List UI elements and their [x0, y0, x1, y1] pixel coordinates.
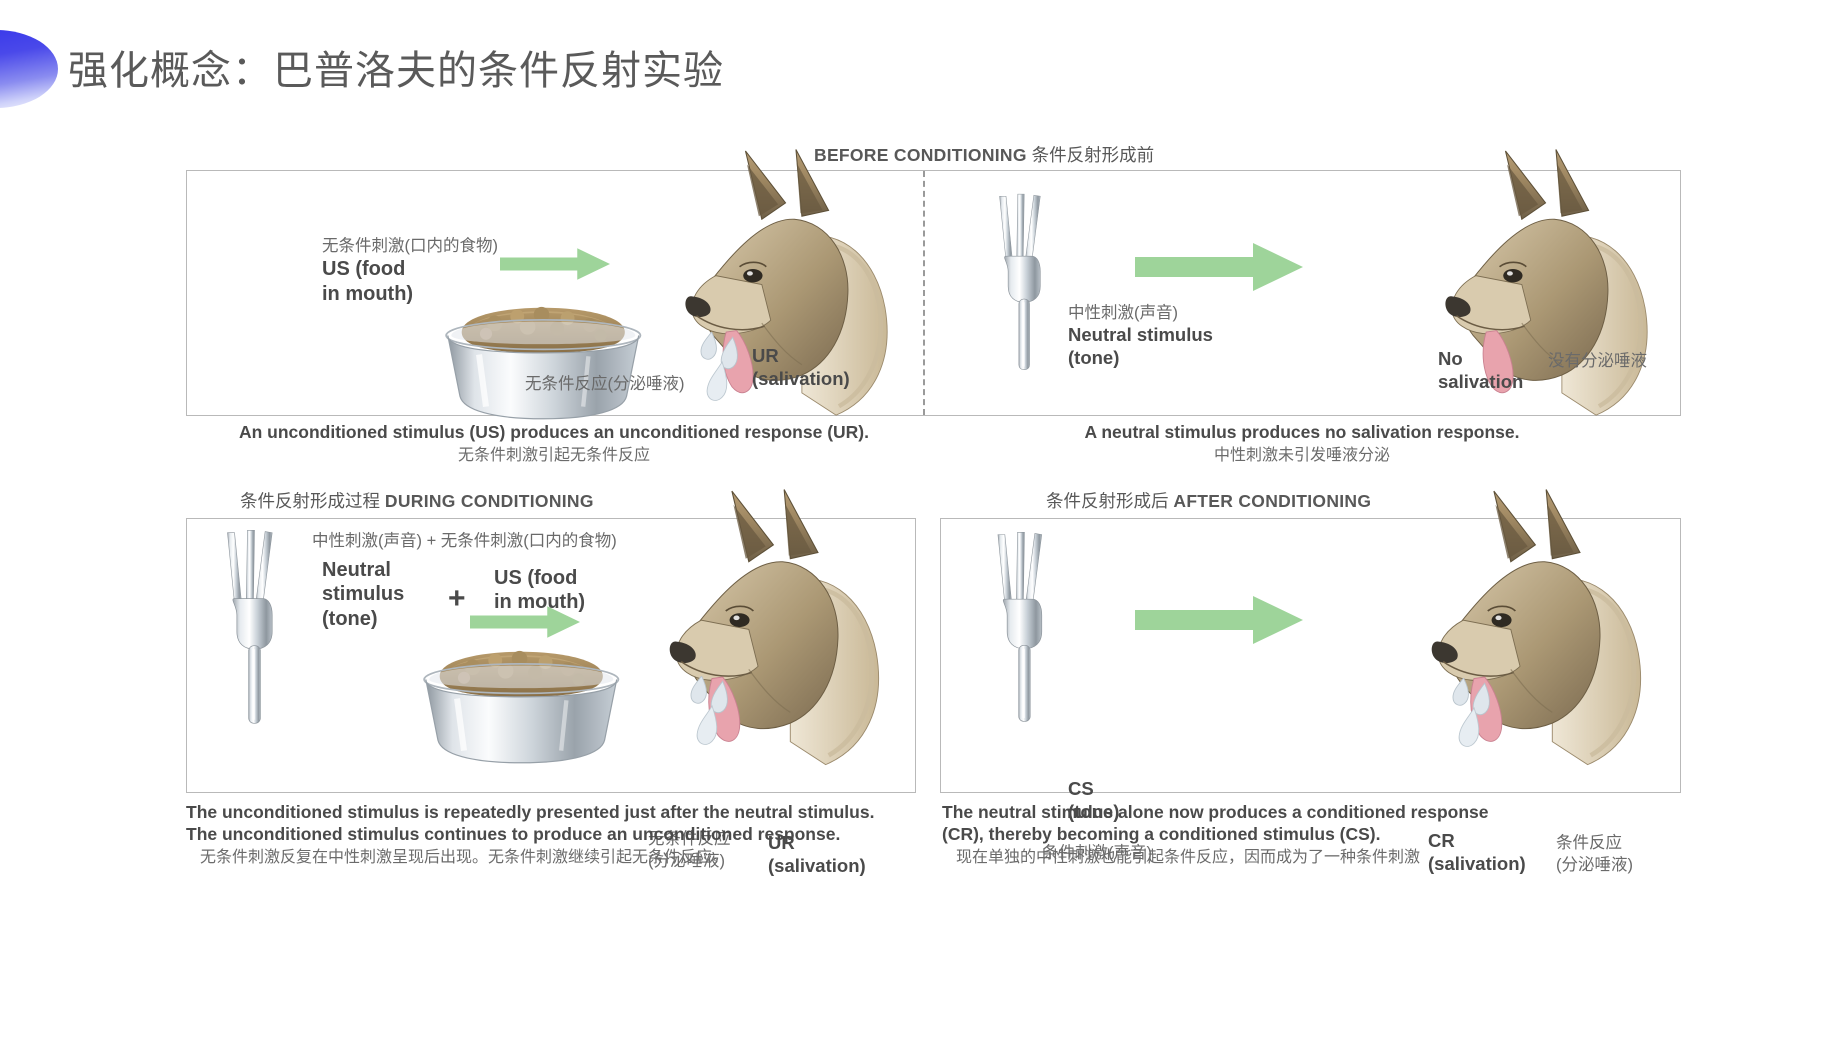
page-title: 强化概念：巴普洛夫的条件反射实验 [68, 38, 724, 96]
before-no-salivation-cn-wrap: 没有分泌唾液 [1548, 350, 1647, 372]
no-salivation-line2: salivation [1438, 371, 1523, 394]
before-ur-label-en-line2: (salivation) [752, 368, 850, 391]
before-right-caption: A neutral stimulus produces no salivatio… [922, 422, 1682, 468]
food-bowl-during [418, 650, 628, 768]
before-us-label: 无条件刺激(口内的食物) US (food in mouth) [322, 235, 498, 306]
before-us-label-en-line2: in mouth) [322, 282, 498, 306]
arrow-ns-to-dog [1108, 243, 1330, 291]
before-ns-label: 中性刺激(声音) Neutral stimulus (tone) [1068, 302, 1213, 369]
arrow-cs-to-dog [1108, 596, 1330, 644]
after-header-cn: 条件反射形成后 [1046, 491, 1169, 511]
during-header-cn: 条件反射形成过程 [240, 491, 380, 511]
during-ns-line2: stimulus [322, 582, 404, 606]
tuning-fork-during [196, 528, 306, 728]
during-caption-en-line2: The unconditioned stimulus continues to … [186, 824, 926, 846]
during-us-line2: in mouth) [494, 590, 585, 614]
before-left-caption-cn: 无条件刺激引起无条件反应 [186, 444, 922, 468]
before-us-label-cn: 无条件刺激(口内的食物) [322, 235, 498, 257]
tuning-fork-before [966, 192, 1076, 374]
after-cs-line1: CS [1068, 778, 1119, 801]
during-conditioning-header: 条件反射形成过程 DURING CONDITIONING [240, 488, 594, 513]
before-ur-label-en-line1: UR [752, 345, 850, 368]
before-ur-label-cn-wrap: 无条件反应(分泌唾液) [525, 373, 685, 395]
before-ns-label-cn: 中性刺激(声音) [1068, 302, 1213, 324]
saliva-drip-during [690, 676, 736, 750]
before-header-cn: 条件反射形成前 [1032, 145, 1155, 165]
before-left-caption: An unconditioned stimulus (US) produces … [186, 422, 922, 468]
during-caption: The unconditioned stimulus is repeatedly… [186, 802, 926, 870]
after-header-en: AFTER CONDITIONING [1173, 491, 1371, 511]
after-conditioning-header: 条件反射形成后 AFTER CONDITIONING [1046, 488, 1371, 513]
dog-illustration-after [1390, 488, 1690, 780]
during-ns-label: Neutral stimulus (tone) [322, 558, 404, 631]
before-left-caption-en: An unconditioned stimulus (US) produces … [186, 422, 922, 444]
during-ns-line1: Neutral [322, 558, 404, 582]
during-combo-label-cn-wrap: 中性刺激(声音) + 无条件刺激(口内的食物) [312, 530, 617, 552]
after-caption-cn: 现在单独的中性刺激也能引起条件反应，因而成为了一种条件刺激 [942, 846, 1682, 870]
before-ns-label-en-line1: Neutral stimulus [1068, 324, 1213, 347]
during-header-en: DURING CONDITIONING [385, 491, 594, 511]
after-caption: The neutral stimulus alone now produces … [942, 802, 1682, 870]
before-right-caption-cn: 中性刺激未引发唾液分泌 [922, 444, 1682, 468]
pavlov-conditioning-figure: BEFORE CONDITIONING 条件反射形成前 无条件刺激(口内的食物)… [0, 130, 1846, 1010]
during-caption-en-line1: The unconditioned stimulus is repeatedly… [186, 802, 926, 824]
saliva-drip-before [700, 332, 746, 406]
after-caption-en-line1: The neutral stimulus alone now produces … [942, 802, 1682, 824]
during-combo-label-cn: 中性刺激(声音) + 无条件刺激(口内的食物) [312, 530, 617, 552]
no-salivation-line1: No [1438, 348, 1523, 371]
no-salivation-cn: 没有分泌唾液 [1548, 350, 1647, 372]
food-bowl-before [440, 306, 650, 424]
arrow-us-to-dog [500, 248, 610, 280]
saliva-drip-after [1452, 678, 1498, 752]
before-ur-label-en-wrap: UR (salivation) [752, 345, 850, 390]
before-us-label-en-line1: US (food [322, 257, 498, 281]
during-us-line1: US (food [494, 566, 585, 590]
during-plus-sign: + [448, 582, 466, 616]
tuning-fork-after [966, 530, 1076, 726]
during-caption-cn: 无条件刺激反复在中性刺激呈现后出现。无条件刺激继续引起无条件反应。 [186, 846, 926, 870]
during-us-label: US (food in mouth) [494, 566, 585, 615]
after-caption-en-line2: (CR), thereby becoming a conditioned sti… [942, 824, 1682, 846]
before-ns-label-en-line2: (tone) [1068, 347, 1213, 370]
before-no-salivation-en: No salivation [1438, 348, 1523, 393]
before-right-caption-en: A neutral stimulus produces no salivatio… [922, 422, 1682, 444]
title-accent-shape [0, 30, 58, 108]
dog-illustration-during [628, 488, 928, 780]
before-ur-label-cn: 无条件反应(分泌唾液) [525, 373, 685, 395]
during-ns-line3: (tone) [322, 607, 404, 631]
